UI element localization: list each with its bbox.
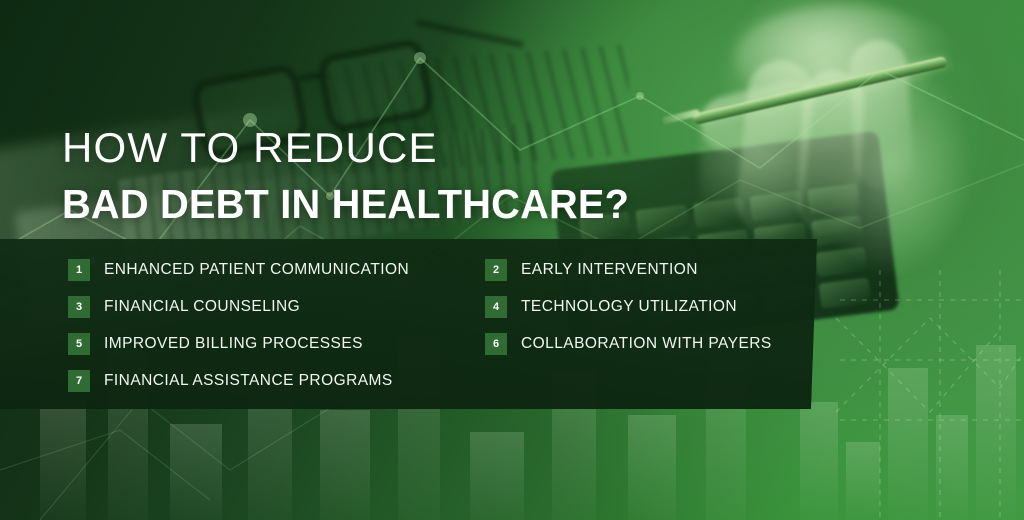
list-item-label: TECHNOLOGY UTILIZATION: [521, 298, 737, 316]
list-item-label: EARLY INTERVENTION: [521, 261, 698, 279]
list-item: 2 EARLY INTERVENTION: [485, 259, 698, 281]
healthcare-bad-debt-banner: HOW TO REDUCE BAD DEBT IN HEALTHCARE? 1 …: [0, 0, 1024, 520]
list-column-right: 2 EARLY INTERVENTION 4 TECHNOLOGY UTILIZ…: [0, 0, 1024, 520]
list-item-number: 6: [485, 333, 507, 355]
list-item: 6 COLLABORATION WITH PAYERS: [485, 333, 772, 355]
list-item-number: 4: [485, 296, 507, 318]
list-item-label: COLLABORATION WITH PAYERS: [521, 335, 772, 353]
list-item: 4 TECHNOLOGY UTILIZATION: [485, 296, 737, 318]
list-item-number: 2: [485, 259, 507, 281]
